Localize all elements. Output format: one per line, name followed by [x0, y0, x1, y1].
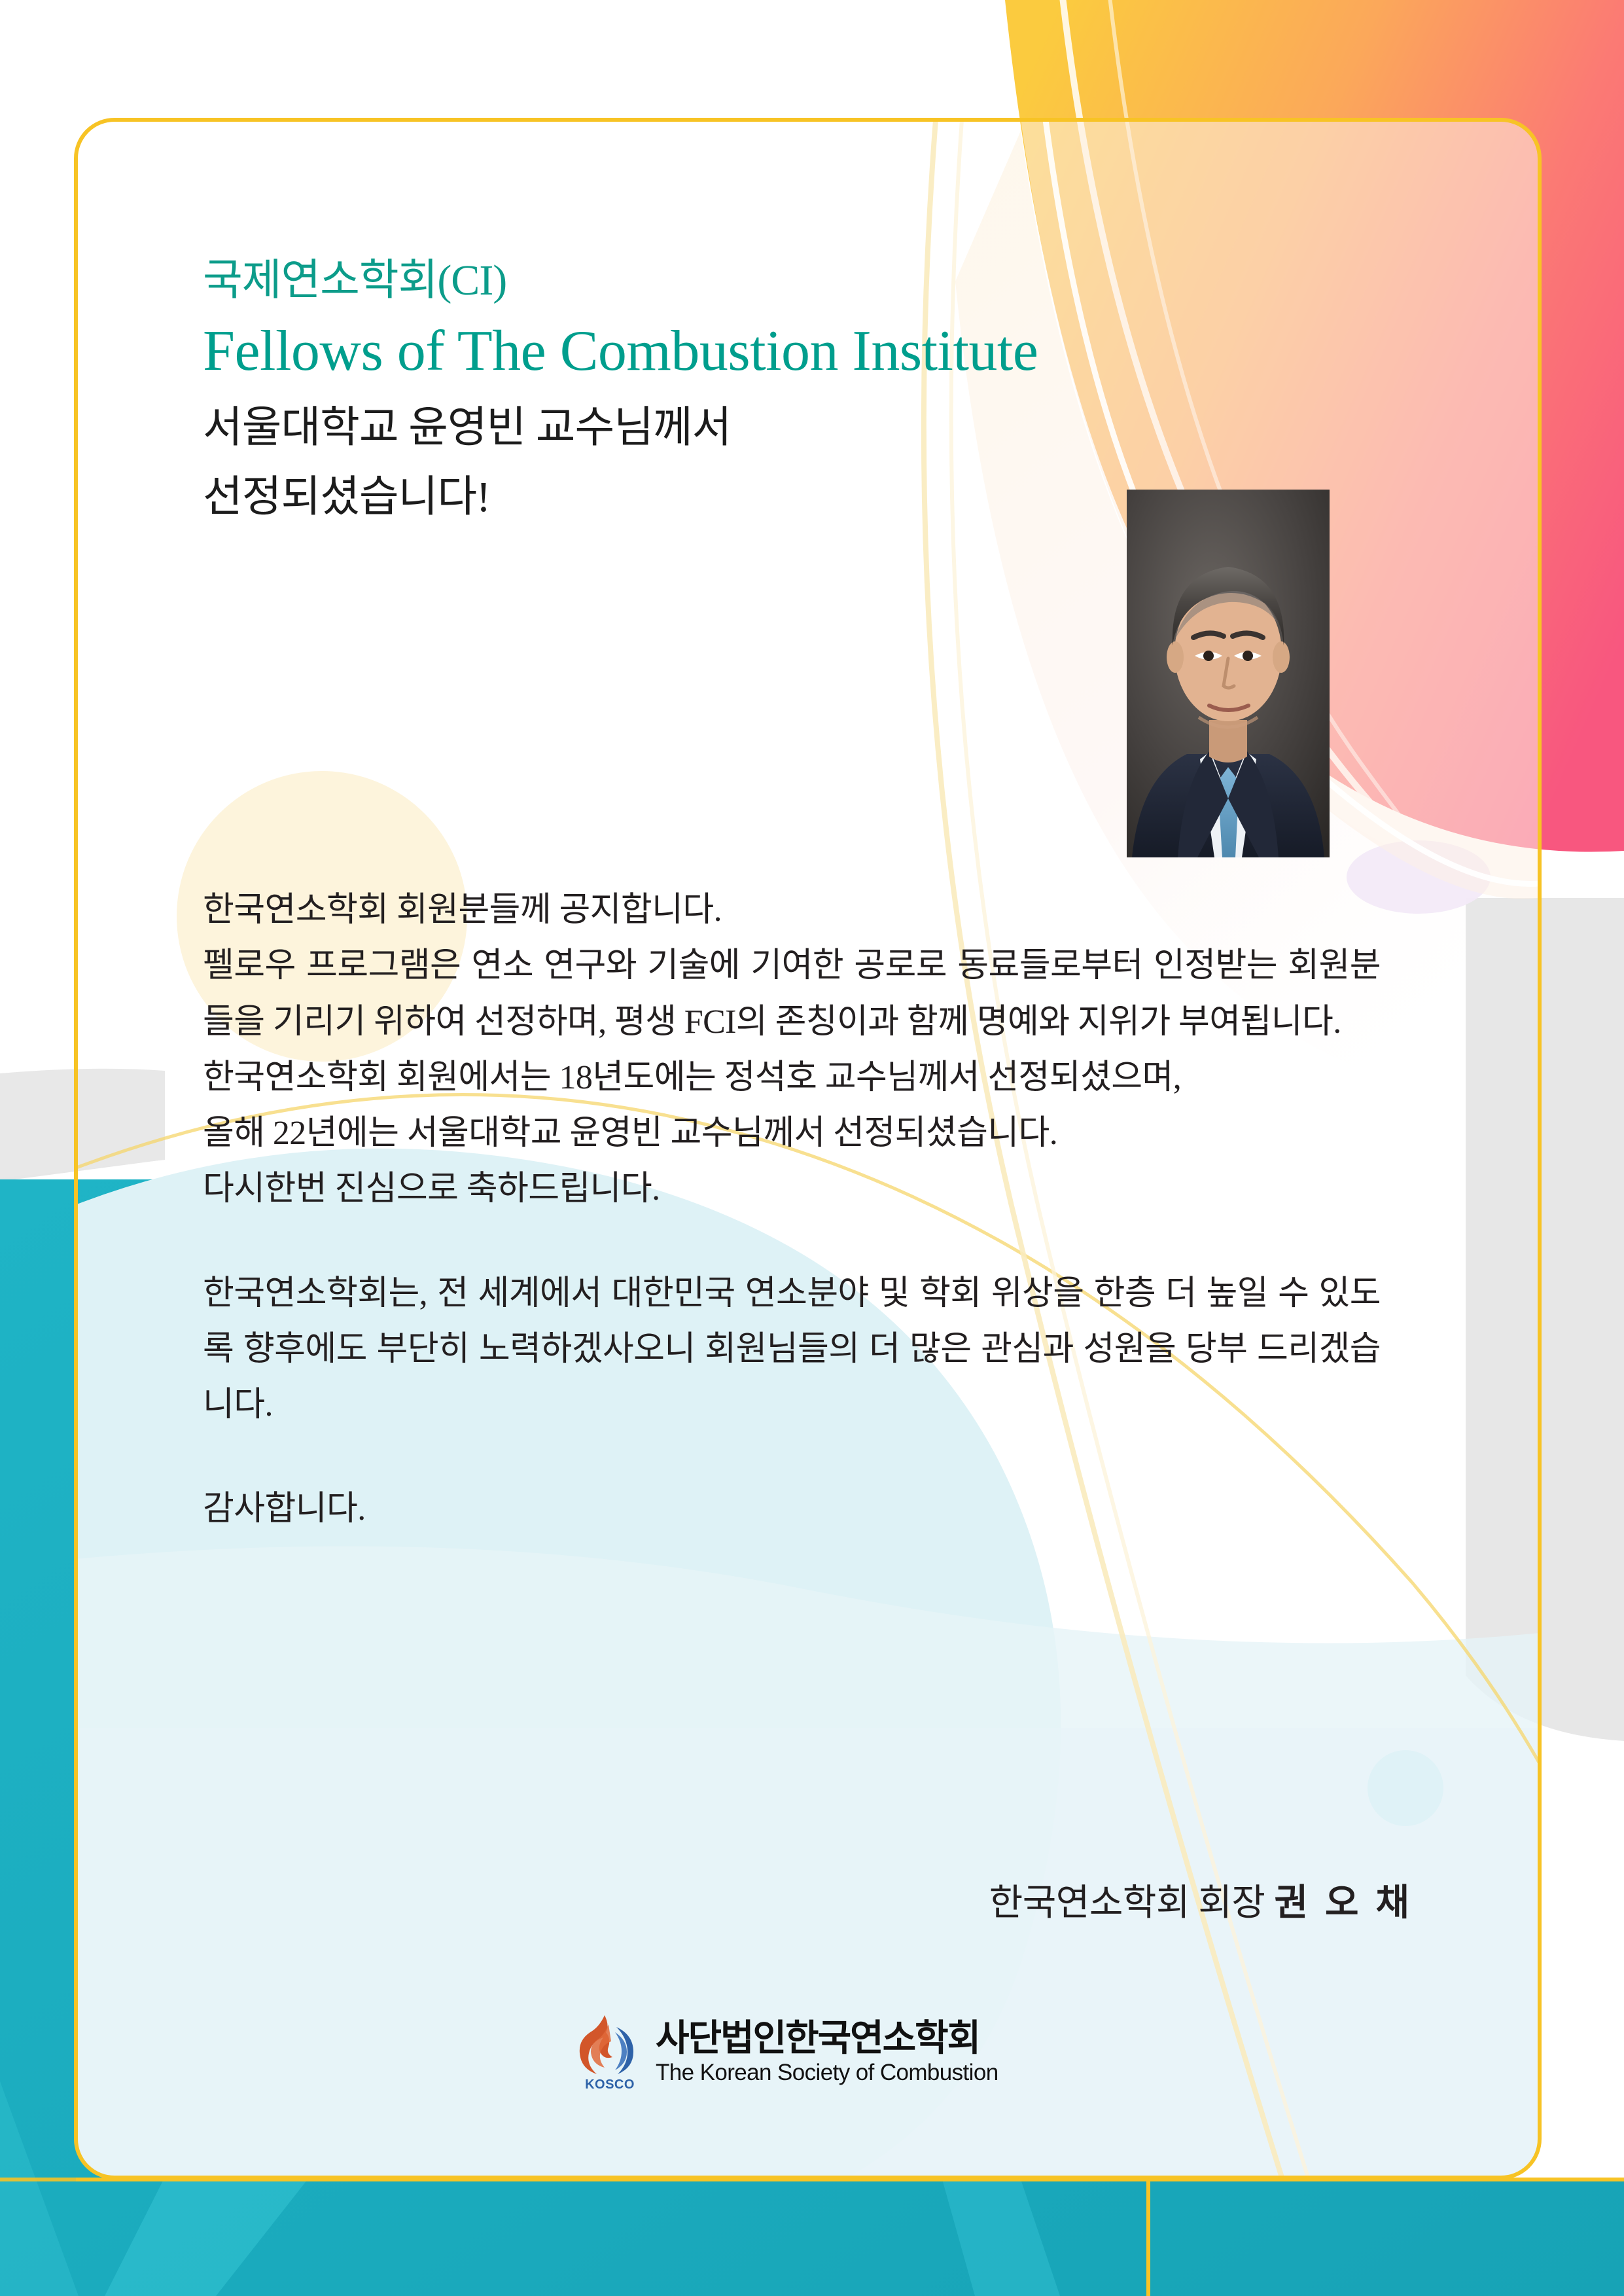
heading-block: 국제연소학회(CI) Fellows of The Combustion Ins…	[203, 252, 1132, 529]
announcement-body: 한국연소학회 회원분들께 공지합니다. 펠로우 프로그램은 연소 연구와 기술에…	[203, 882, 1381, 1537]
body-line-5: 다시한번 진심으로 축하드립니다.	[203, 1161, 1381, 1217]
body-line-7: 감사합니다.	[203, 1481, 1381, 1537]
kosco-logo: KOSCO 사단법인한국연소학회 The Korean Society of C…	[576, 2013, 998, 2091]
kosco-logo-text: 사단법인한국연소학회 The Korean Society of Combust…	[656, 2018, 998, 2085]
body-line-6: 한국연소학회는, 전 세계에서 대한민국 연소분야 및 학회 위상을 한층 더 …	[203, 1266, 1381, 1433]
signature-line: 한국연소학회 회장권 오 채	[0, 1873, 1413, 1926]
body-line-4: 올해 22년에는 서울대학교 윤영빈 교수님께서 선정되셨습니다.	[203, 1105, 1381, 1161]
professor-portrait-photo	[1127, 490, 1330, 857]
signature-role: 한국연소학회 회장	[989, 1883, 1265, 1924]
heading-english-title: Fellows of The Combustion Institute	[203, 313, 1132, 390]
body-line-2: 펠로우 프로그램은 연소 연구와 기술에 기여한 공로로 동료들로부터 인정받는…	[203, 938, 1381, 1050]
poster-content: 국제연소학회(CI) Fellows of The Combustion Ins…	[0, 0, 1624, 2296]
body-line-1: 한국연소학회 회원분들께 공지합니다.	[203, 882, 1381, 938]
paragraph-spacer-1	[203, 1217, 1381, 1266]
kosco-acronym-label: KOSCO	[576, 2077, 644, 2092]
heading-subtitle-line1: 서울대학교 윤영빈 교수님께서	[203, 397, 1132, 459]
kosco-name-korean: 사단법인한국연소학회	[656, 2018, 998, 2058]
poster-stage: 국제연소학회(CI) Fellows of The Combustion Ins…	[0, 0, 1624, 2296]
heading-subtitle-line2: 선정되셨습니다!	[203, 466, 1132, 529]
signature-name: 권 오 채	[1274, 1883, 1413, 1924]
body-line-3: 한국연소학회 회원에서는 18년도에는 정석호 교수님께서 선정되셨으며,	[203, 1050, 1381, 1105]
kosco-name-english: The Korean Society of Combustion	[656, 2060, 998, 2085]
kosco-flame-icon: KOSCO	[576, 2013, 644, 2091]
heading-korean-title: 국제연소학회(CI)	[203, 252, 1132, 309]
paragraph-spacer-2	[203, 1433, 1381, 1481]
